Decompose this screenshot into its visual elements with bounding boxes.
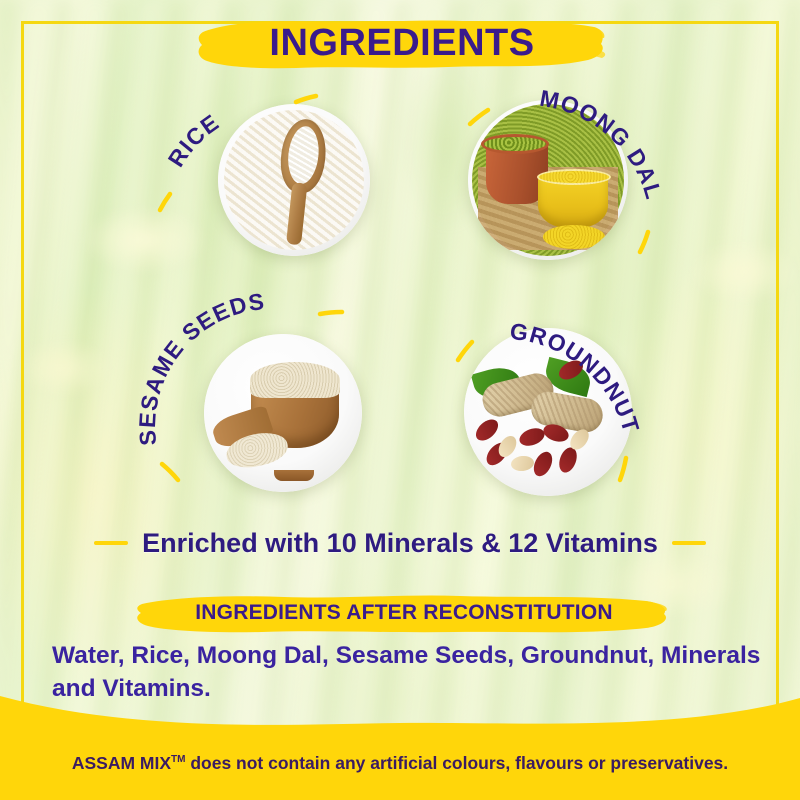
enriched-text: Enriched with 10 Minerals & 12 Vitamins	[142, 528, 658, 559]
clay-pot-rim	[481, 134, 549, 154]
dal-spill	[543, 225, 605, 249]
page-title: INGREDIENTS	[196, 16, 608, 72]
ingredients-header-banner: INGREDIENTS	[196, 16, 608, 72]
ingredient-image-moong-dal	[468, 100, 628, 260]
dash-left-icon	[94, 541, 128, 545]
brand-name: ASSAM MIX	[72, 753, 171, 773]
glass-bowl-rim	[537, 169, 611, 185]
wooden-bowl-foot	[274, 470, 314, 481]
disclaimer-body: does not contain any artificial colours,…	[185, 753, 728, 773]
dash-right-icon	[672, 541, 706, 545]
reconstitution-header-banner: INGREDIENTS AFTER RECONSTITUTION	[134, 592, 674, 634]
sesame-seed-heap	[250, 362, 340, 398]
ingredient-image-rice	[218, 104, 370, 256]
disclaimer-band: ASSAM MIXTM does not contain any artific…	[0, 696, 800, 800]
trademark-symbol: TM	[171, 754, 185, 765]
reconstitution-heading: INGREDIENTS AFTER RECONSTITUTION	[134, 592, 674, 634]
enriched-callout: Enriched with 10 Minerals & 12 Vitamins	[70, 522, 730, 564]
ingredient-image-sesame-seeds	[204, 334, 362, 492]
curved-band-shape	[0, 696, 800, 800]
ingredient-image-groundnut	[464, 328, 632, 496]
disclaimer-text: ASSAM MIXTM does not contain any artific…	[0, 753, 800, 774]
